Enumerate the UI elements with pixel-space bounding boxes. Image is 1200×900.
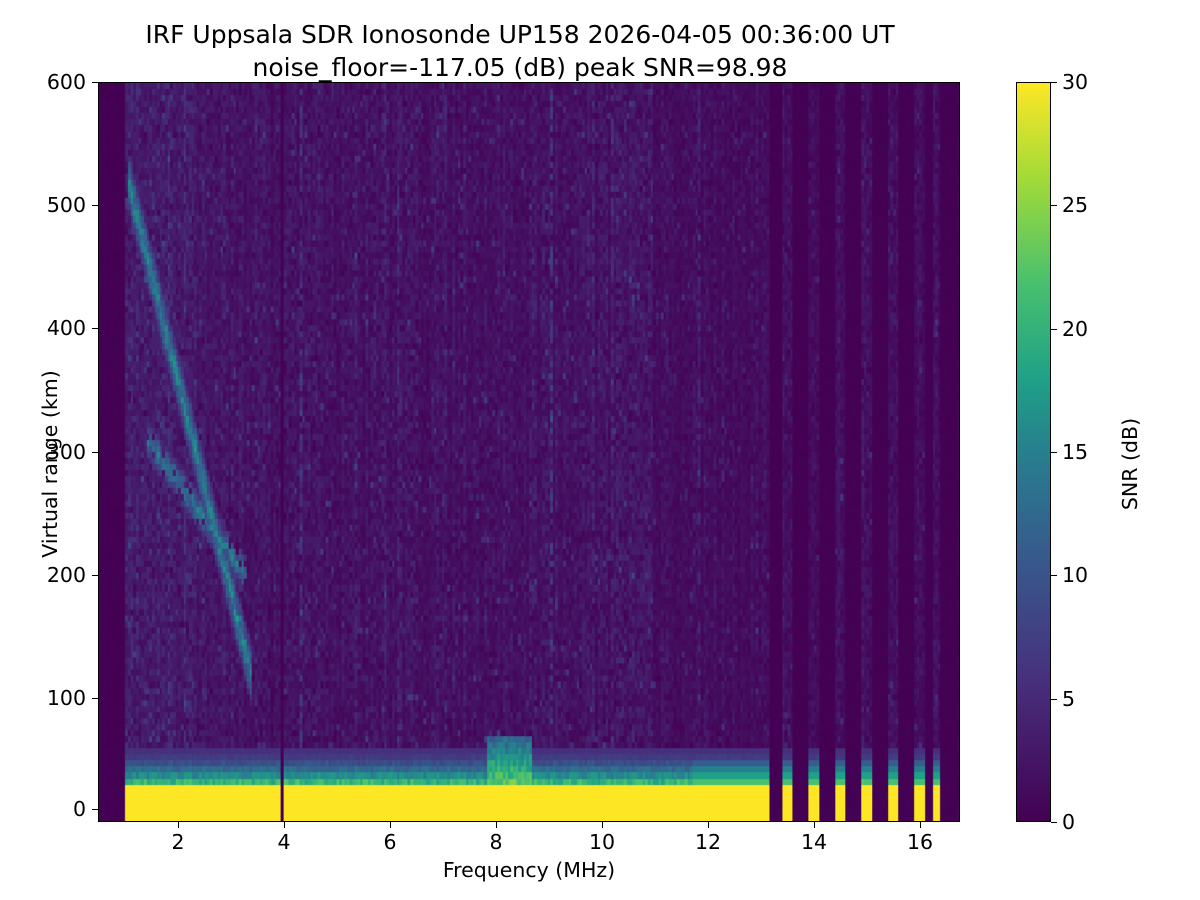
y-tick-mark — [92, 205, 98, 206]
x-tick-label: 6 — [345, 832, 435, 853]
x-axis-label: Frequency (MHz) — [98, 858, 960, 882]
snr-colorbar[interactable] — [1016, 82, 1051, 822]
colorbar-tick-mark — [1051, 699, 1057, 700]
colorbar-tick-mark — [1051, 329, 1057, 330]
x-tick-label: 10 — [557, 832, 647, 853]
x-tick-mark — [390, 822, 391, 828]
ionogram-heatmap-canvas — [99, 83, 959, 821]
x-tick-mark — [814, 822, 815, 828]
y-tick-label: 0 — [0, 799, 86, 820]
colorbar-label: SNR (dB) — [1118, 314, 1142, 614]
x-tick-label: 4 — [239, 832, 329, 853]
y-axis-label: Virtual range (km) — [38, 314, 62, 614]
ionogram-figure: IRF Uppsala SDR Ionosonde UP158 2026-04-… — [0, 0, 1200, 900]
colorbar-tick-label: 15 — [1062, 442, 1088, 463]
x-tick-label: 2 — [133, 832, 223, 853]
y-tick-mark — [92, 82, 98, 83]
x-tick-mark — [284, 822, 285, 828]
y-tick-label: 500 — [0, 195, 86, 216]
y-tick-mark — [92, 698, 98, 699]
colorbar-tick-label: 0 — [1062, 812, 1075, 833]
x-tick-mark — [920, 822, 921, 828]
x-tick-label: 12 — [663, 832, 753, 853]
x-tick-label: 8 — [451, 832, 541, 853]
x-tick-mark — [496, 822, 497, 828]
colorbar-tick-label: 5 — [1062, 689, 1075, 710]
x-tick-label: 16 — [875, 832, 965, 853]
y-tick-mark — [92, 328, 98, 329]
x-tick-mark — [708, 822, 709, 828]
colorbar-tick-mark — [1051, 82, 1057, 83]
y-tick-mark — [92, 452, 98, 453]
colorbar-tick-mark — [1051, 452, 1057, 453]
y-tick-mark — [92, 575, 98, 576]
colorbar-tick-label: 25 — [1062, 195, 1088, 216]
y-tick-label: 100 — [0, 688, 86, 709]
colorbar-tick-label: 10 — [1062, 565, 1088, 586]
figure-title: IRF Uppsala SDR Ionosonde UP158 2026-04-… — [0, 18, 1040, 84]
colorbar-tick-mark — [1051, 822, 1057, 823]
x-tick-mark — [178, 822, 179, 828]
x-tick-mark — [602, 822, 603, 828]
x-tick-label: 14 — [769, 832, 859, 853]
colorbar-tick-label: 20 — [1062, 319, 1088, 340]
y-tick-label: 600 — [0, 72, 86, 93]
colorbar-tick-mark — [1051, 575, 1057, 576]
ionogram-plot-area[interactable] — [98, 82, 960, 822]
colorbar-tick-label: 30 — [1062, 72, 1088, 93]
y-tick-mark — [92, 809, 98, 810]
colorbar-tick-mark — [1051, 205, 1057, 206]
